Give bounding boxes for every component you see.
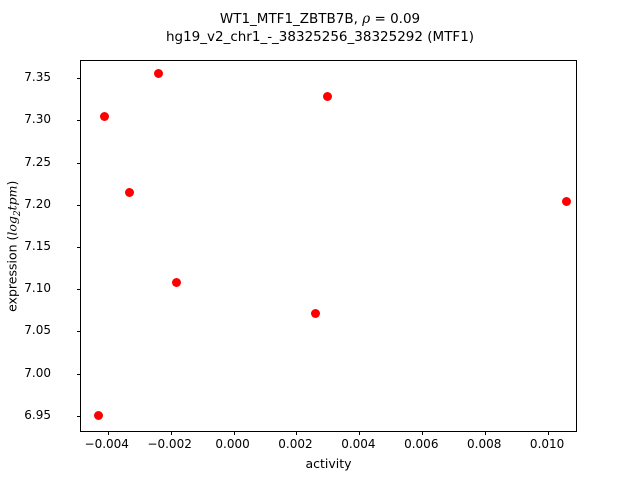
y-axis-label: expression (log2tpm)	[4, 60, 24, 432]
y-axis-tick-label: 7.30	[24, 112, 51, 126]
rho-value: = 0.09	[370, 11, 420, 27]
x-axis-tick	[422, 431, 423, 435]
rho-symbol: ρ	[362, 11, 370, 27]
y-axis-tick-label: 7.25	[24, 155, 51, 169]
x-axis-tick	[359, 431, 360, 435]
scatter-point	[94, 411, 103, 420]
y-axis-tick	[77, 120, 81, 121]
y-axis-label-math-sub: 2	[13, 210, 23, 216]
y-axis-label-math-tail: tpm	[5, 185, 20, 210]
x-axis-tick	[234, 431, 235, 435]
scatter-point	[100, 112, 109, 121]
y-axis-tick	[77, 205, 81, 206]
x-axis-tick	[485, 431, 486, 435]
chart-title-prefix: WT1_MTF1_ZBTB7B,	[220, 11, 362, 27]
chart-title: WT1_MTF1_ZBTB7B, ρ = 0.09 hg19_v2_chr1_-…	[0, 10, 640, 46]
x-axis-tick	[548, 431, 549, 435]
x-axis-tick-label: 0.004	[341, 437, 375, 451]
chart-title-line-1: WT1_MTF1_ZBTB7B, ρ = 0.09	[0, 10, 640, 28]
y-axis-tick-label: 6.95	[24, 408, 51, 422]
scatter-point	[562, 197, 571, 206]
x-axis-tick-label: 0.010	[530, 437, 564, 451]
x-axis-tick-label: 0.008	[467, 437, 501, 451]
y-axis-tick-label: 7.20	[24, 197, 51, 211]
x-axis-tick	[296, 431, 297, 435]
y-axis-tick	[77, 247, 81, 248]
y-axis-label-math-base: log	[5, 216, 20, 236]
x-axis-tick-label: 0.002	[278, 437, 312, 451]
y-axis-tick-label: 7.10	[24, 281, 51, 295]
y-axis-tick-label: 7.05	[24, 323, 51, 337]
y-axis-tick-label: 7.35	[24, 70, 51, 84]
scatter-point	[172, 278, 181, 287]
y-axis-label-prefix: expression (	[5, 235, 20, 311]
y-axis-tick	[77, 374, 81, 375]
y-axis-tick-label: 7.00	[24, 366, 51, 380]
scatter-plot-figure: WT1_MTF1_ZBTB7B, ρ = 0.09 hg19_v2_chr1_-…	[0, 0, 640, 480]
scatter-point	[311, 309, 320, 318]
x-axis-tick-label: 0.006	[404, 437, 438, 451]
x-axis-label: activity	[80, 456, 577, 471]
y-axis-tick	[77, 78, 81, 79]
plot-axes-frame	[80, 60, 577, 432]
scatter-point	[154, 69, 163, 78]
x-axis-tick	[108, 431, 109, 435]
y-axis-tick	[77, 163, 81, 164]
scatter-point	[323, 92, 332, 101]
x-axis-tick-label: 0.000	[215, 437, 249, 451]
y-axis-tick	[77, 331, 81, 332]
x-axis-tick-label: −0.002	[147, 437, 191, 451]
x-axis-tick-label: −0.004	[85, 437, 129, 451]
y-axis-label-suffix: )	[5, 180, 20, 185]
chart-title-line-2: hg19_v2_chr1_-_38325256_38325292 (MTF1)	[0, 28, 640, 46]
y-axis-tick	[77, 416, 81, 417]
y-axis-tick	[77, 289, 81, 290]
y-axis-tick-label: 7.15	[24, 239, 51, 253]
x-axis-tick	[171, 431, 172, 435]
scatter-point	[125, 188, 134, 197]
